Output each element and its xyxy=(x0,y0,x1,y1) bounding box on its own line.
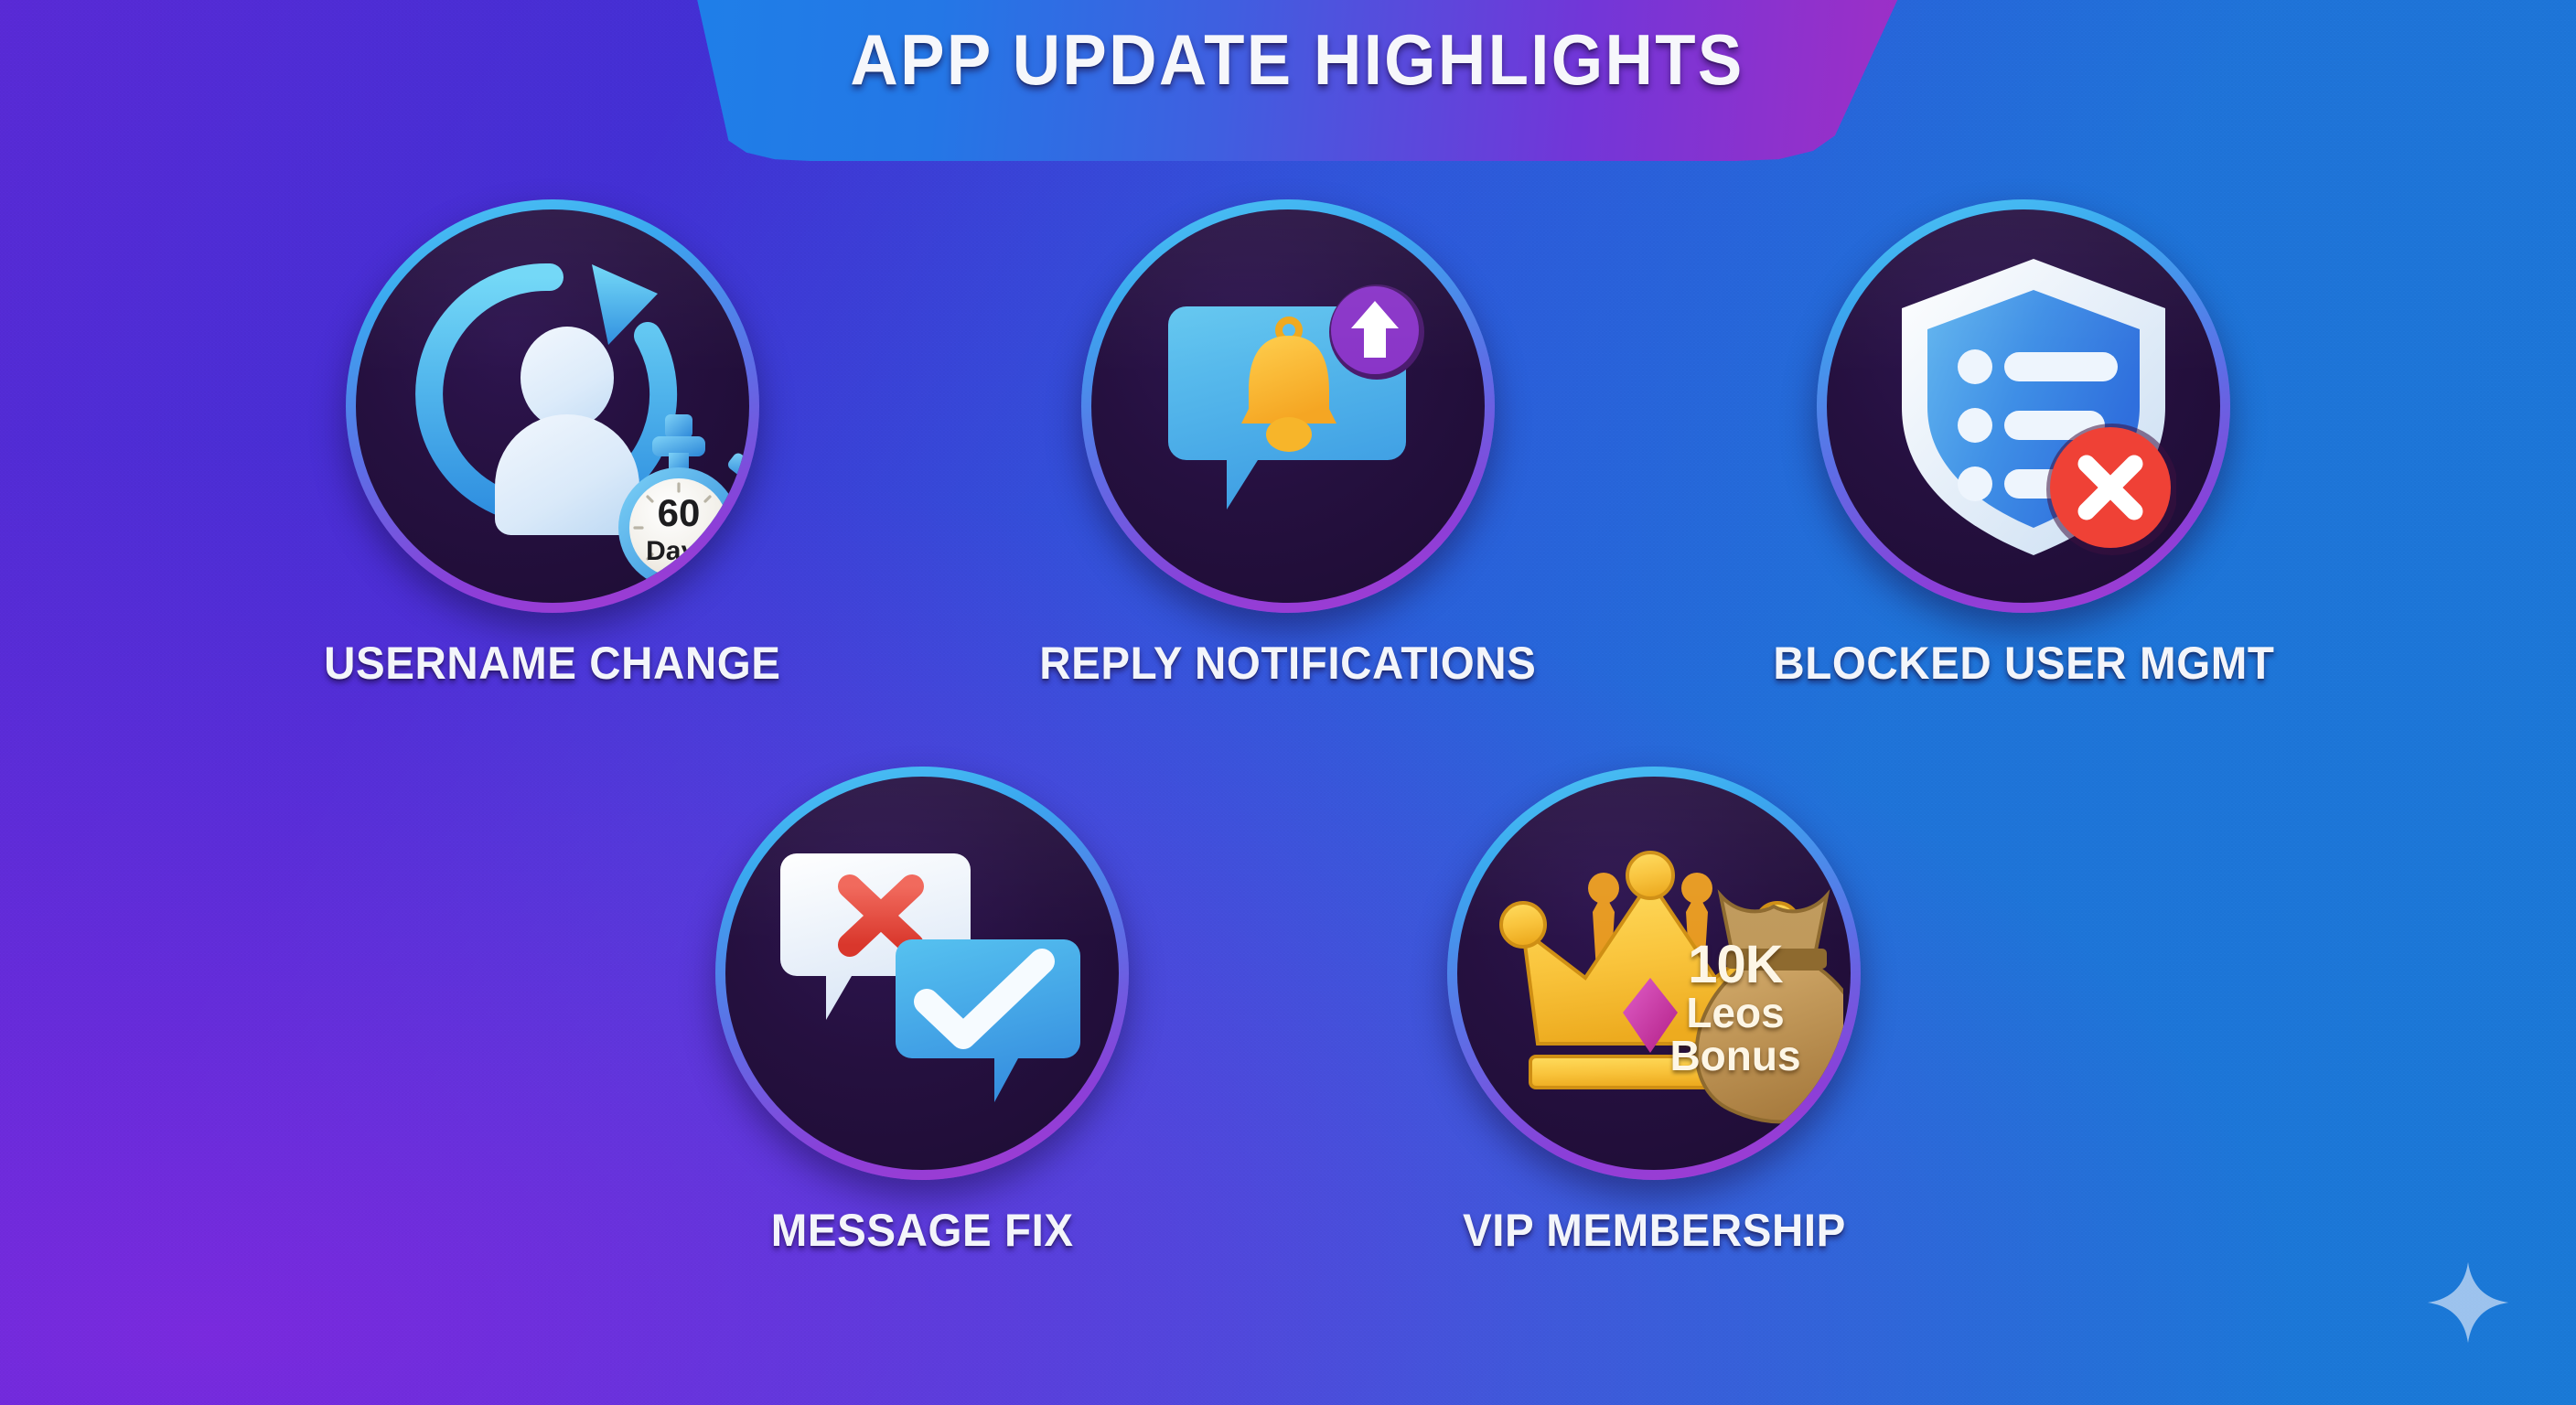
stopwatch-unit: Days xyxy=(646,536,712,566)
feature-label-blocked-user-mgmt: BLOCKED USER MGMT xyxy=(1773,637,2274,690)
rotate-arrow-icon xyxy=(413,257,687,531)
bag-amount: 10K xyxy=(1653,938,1818,992)
x-mark-icon xyxy=(2087,464,2134,511)
feature-label-vip-membership: VIP MEMBERSHIP xyxy=(1463,1204,1846,1257)
user-body xyxy=(495,414,639,535)
feature-disc[interactable] xyxy=(715,767,1129,1180)
feature-card-message-fix[interactable]: MESSAGE FIX xyxy=(707,767,1137,1257)
feature-disc[interactable]: 10K Leos Bonus xyxy=(1447,767,1861,1180)
feature-card-blocked-user-mgmt[interactable]: BLOCKED USER MGMT xyxy=(1809,199,2238,690)
user-head xyxy=(521,327,614,429)
blocked-badge xyxy=(2050,427,2171,548)
bag-currency: Leos xyxy=(1653,992,1818,1035)
feature-disc[interactable] xyxy=(1817,199,2230,613)
shield-list-icon xyxy=(1891,253,2176,561)
check-icon xyxy=(927,961,1042,1036)
feature-disc-inner xyxy=(1091,209,1485,603)
stopwatch-icon: 60 Days xyxy=(592,409,749,592)
feature-card-reply-notifications[interactable]: REPLY NOTIFICATIONS xyxy=(1073,199,1503,690)
feature-row-top: 60 Days USERNAME CHANGE xyxy=(0,199,2576,690)
feature-row-bottom: MESSAGE FIX xyxy=(0,767,2576,1257)
feature-card-username-change[interactable]: 60 Days USERNAME CHANGE xyxy=(338,199,767,690)
up-arrow-icon xyxy=(1351,301,1399,358)
feature-disc-inner xyxy=(725,777,1119,1170)
crown-money-bag-icon xyxy=(1490,841,1843,1124)
feature-card-vip-membership[interactable]: 10K Leos Bonus VIP MEMBERSHIP xyxy=(1439,767,1869,1257)
feature-label-username-change: USERNAME CHANGE xyxy=(324,637,780,690)
feature-disc[interactable] xyxy=(1081,199,1495,613)
feature-label-message-fix: MESSAGE FIX xyxy=(771,1204,1074,1257)
stopwatch-value: 60 xyxy=(658,491,701,534)
feature-label-reply-notifications: REPLY NOTIFICATIONS xyxy=(1039,637,1536,690)
four-point-sparkle-icon xyxy=(2426,1260,2510,1345)
chat-bubble-ok xyxy=(896,939,1080,1102)
bag-kind: Bonus xyxy=(1653,1035,1818,1078)
x-mark-icon xyxy=(850,886,912,945)
page-title: APP UPDATE HIGHLIGHTS xyxy=(702,0,1893,128)
feature-disc-inner: 60 Days xyxy=(356,209,749,603)
upgrade-badge xyxy=(1331,286,1419,374)
feature-disc-inner: 10K Leos Bonus xyxy=(1457,777,1851,1170)
bag-amount-text: 10K Leos Bonus xyxy=(1653,938,1818,1078)
two-chat-bubbles-x-check-icon xyxy=(778,848,1086,1113)
user-silhouette-icon xyxy=(489,327,645,528)
feature-disc[interactable]: 60 Days xyxy=(346,199,759,613)
speech-bubble-bell-icon xyxy=(1161,275,1435,550)
chat-bubble-error xyxy=(780,853,971,1020)
feature-disc-inner xyxy=(1827,209,2220,603)
header-banner: APP UPDATE HIGHLIGHTS xyxy=(0,0,2576,174)
